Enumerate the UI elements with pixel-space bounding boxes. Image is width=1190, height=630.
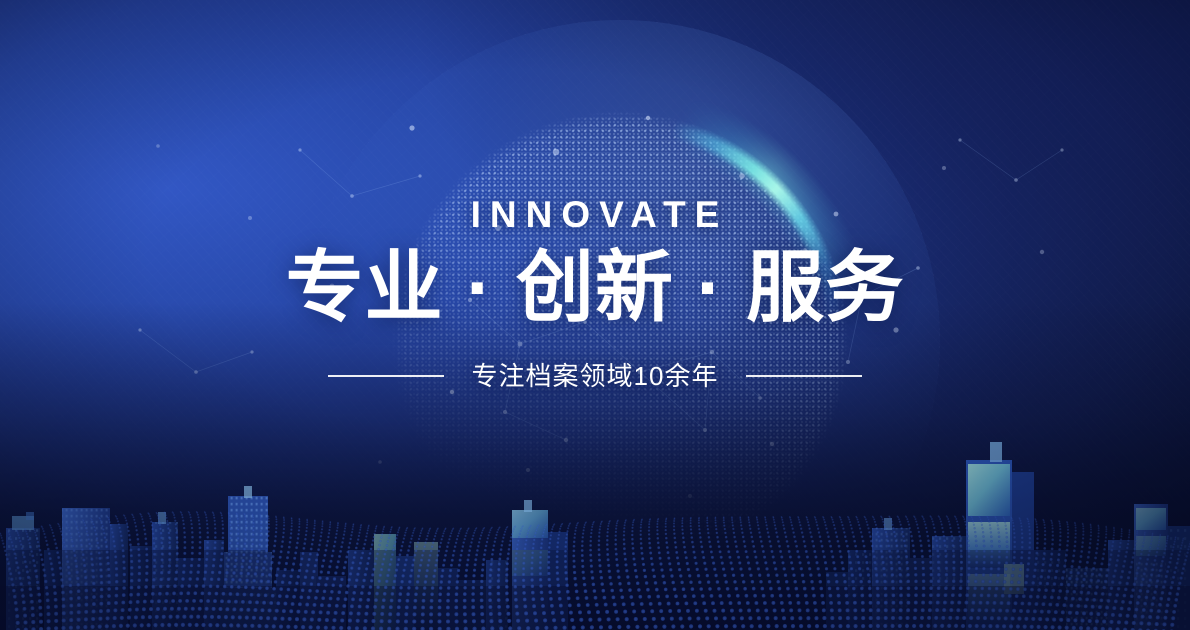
subtitle-row: 专注档案领域10余年 [0, 363, 1190, 389]
subtitle-text: 专注档案领域10余年 [472, 363, 719, 389]
right-rule [746, 375, 862, 377]
page-title: 专业 · 创新 · 服务 [0, 248, 1190, 326]
left-rule [328, 375, 444, 377]
eyebrow-text: INNOVATE [0, 196, 1190, 233]
hero-banner: INNOVATE 专业 · 创新 · 服务 专注档案领域10余年 [0, 0, 1190, 630]
